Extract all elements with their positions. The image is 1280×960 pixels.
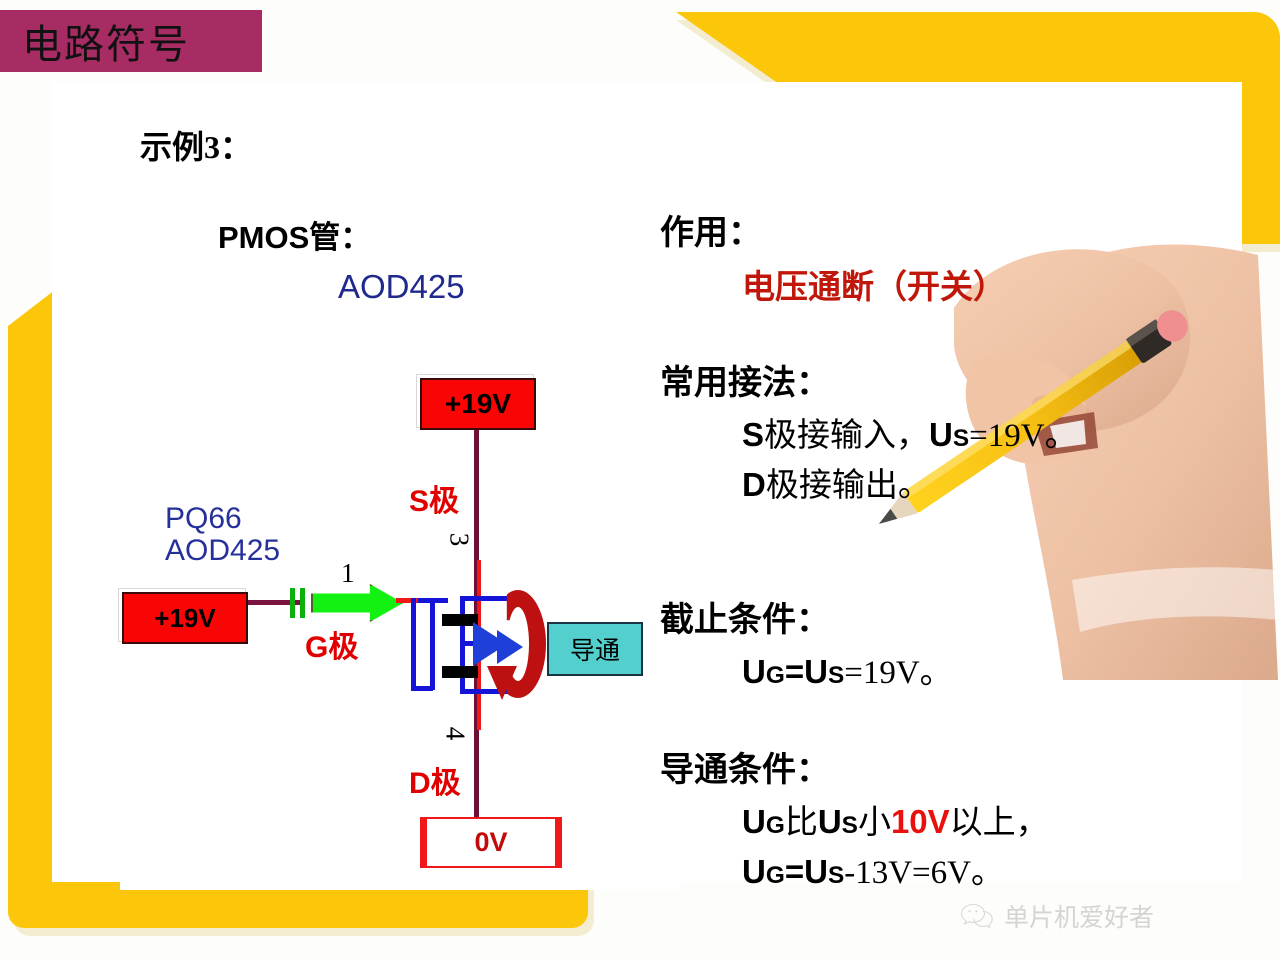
wiring-line1-s: S bbox=[742, 416, 764, 453]
gate-terminal-label: G极 bbox=[305, 622, 358, 666]
conduct-mid2: 小 bbox=[858, 805, 891, 841]
section-wiring-heading: 常用接法： bbox=[660, 355, 830, 404]
wiring-line1-post: =19V。 bbox=[969, 418, 1077, 454]
designator-line-1: PQ66 bbox=[165, 503, 280, 535]
gate-lead-vertical bbox=[411, 598, 416, 690]
conduct2-post: -13V=6V。 bbox=[844, 855, 1004, 891]
pmos-heading: PMOS管： bbox=[218, 212, 371, 257]
slide-title-bar: 电路符号 bbox=[0, 10, 262, 72]
cutoff-u1: U bbox=[742, 653, 766, 690]
cutoff-post: =19V。 bbox=[844, 655, 952, 691]
conduct2-u2: U bbox=[804, 853, 828, 890]
wiring-line1-mid: 极接输入， bbox=[764, 418, 929, 454]
pin-number-gate: 1 bbox=[341, 558, 355, 589]
section-function-heading: 作用： bbox=[660, 205, 762, 254]
pin-number-drain: 4 bbox=[439, 727, 470, 741]
conduct-post: 以上， bbox=[950, 805, 1049, 841]
section-conduct-line-1: UG比US小10V以上， bbox=[742, 795, 1049, 843]
supply-left-box: +19V bbox=[122, 592, 248, 644]
section-cutoff-line-1: UG=US=19V。 bbox=[742, 645, 953, 693]
conduct-mid1: 比 bbox=[785, 805, 818, 841]
slide-canvas: 电路符号 bbox=[0, 0, 1280, 960]
section-wiring-line-1: S极接输入，US=19V。 bbox=[742, 408, 1078, 456]
white-content-panel-inner bbox=[120, 90, 680, 890]
wiring-line2-post: 极接输出。 bbox=[766, 468, 931, 504]
conduct-sub2: S bbox=[842, 812, 858, 839]
section-function-body: 电压通断（开关） bbox=[742, 260, 1006, 308]
wechat-icon bbox=[960, 902, 994, 930]
mosfet-drain-lead bbox=[460, 596, 514, 601]
conduct-u2: U bbox=[818, 803, 842, 840]
source-terminal-label: S极 bbox=[409, 476, 459, 520]
mosfet-plate-upper bbox=[442, 614, 478, 626]
conduct2-eq: = bbox=[785, 853, 804, 890]
example-label: 示例3： bbox=[140, 122, 252, 168]
capacitor-symbol bbox=[288, 588, 310, 618]
watermark-text: 单片机爱好者 bbox=[1004, 898, 1154, 934]
mosfet-plate-lower bbox=[442, 666, 478, 678]
section-conduct-heading: 导通条件： bbox=[660, 742, 830, 791]
section-cutoff-heading: 截止条件： bbox=[660, 592, 830, 641]
page-title: 电路符号 bbox=[0, 12, 190, 70]
conduct-u1: U bbox=[742, 803, 766, 840]
watermark: 单片机爱好者 bbox=[960, 898, 1154, 934]
drain-terminal-label: D极 bbox=[409, 758, 461, 802]
wiring-line1-u: U bbox=[929, 416, 953, 453]
pin-number-source: 3 bbox=[443, 533, 474, 547]
designator-line-2: AOD425 bbox=[165, 535, 280, 567]
cutoff-sub1: G bbox=[766, 662, 785, 689]
conduct2-sub1: G bbox=[766, 862, 785, 889]
designator-block: PQ66 AOD425 bbox=[165, 503, 280, 568]
wiring-line2-d: D bbox=[742, 466, 766, 503]
status-badge: 导通 bbox=[547, 622, 643, 676]
conduct2-sub2: S bbox=[828, 862, 844, 889]
ground-box: 0V bbox=[420, 817, 562, 868]
cutoff-sub2: S bbox=[828, 662, 844, 689]
conduct-sub1: G bbox=[766, 812, 785, 839]
conduct-threshold-highlight: 10V bbox=[891, 803, 950, 840]
supply-top-box: +19V bbox=[420, 378, 536, 430]
cutoff-eq1: = bbox=[785, 653, 804, 690]
gate-plate-bar bbox=[430, 598, 435, 690]
section-wiring-line-2: D极接输出。 bbox=[742, 458, 931, 506]
part-number-label: AOD425 bbox=[338, 268, 465, 306]
section-conduct-line-2: UG=US-13V=6V。 bbox=[742, 845, 1004, 893]
wiring-line1-sub: S bbox=[953, 425, 969, 452]
cutoff-u2: U bbox=[804, 653, 828, 690]
conduct2-u1: U bbox=[742, 853, 766, 890]
